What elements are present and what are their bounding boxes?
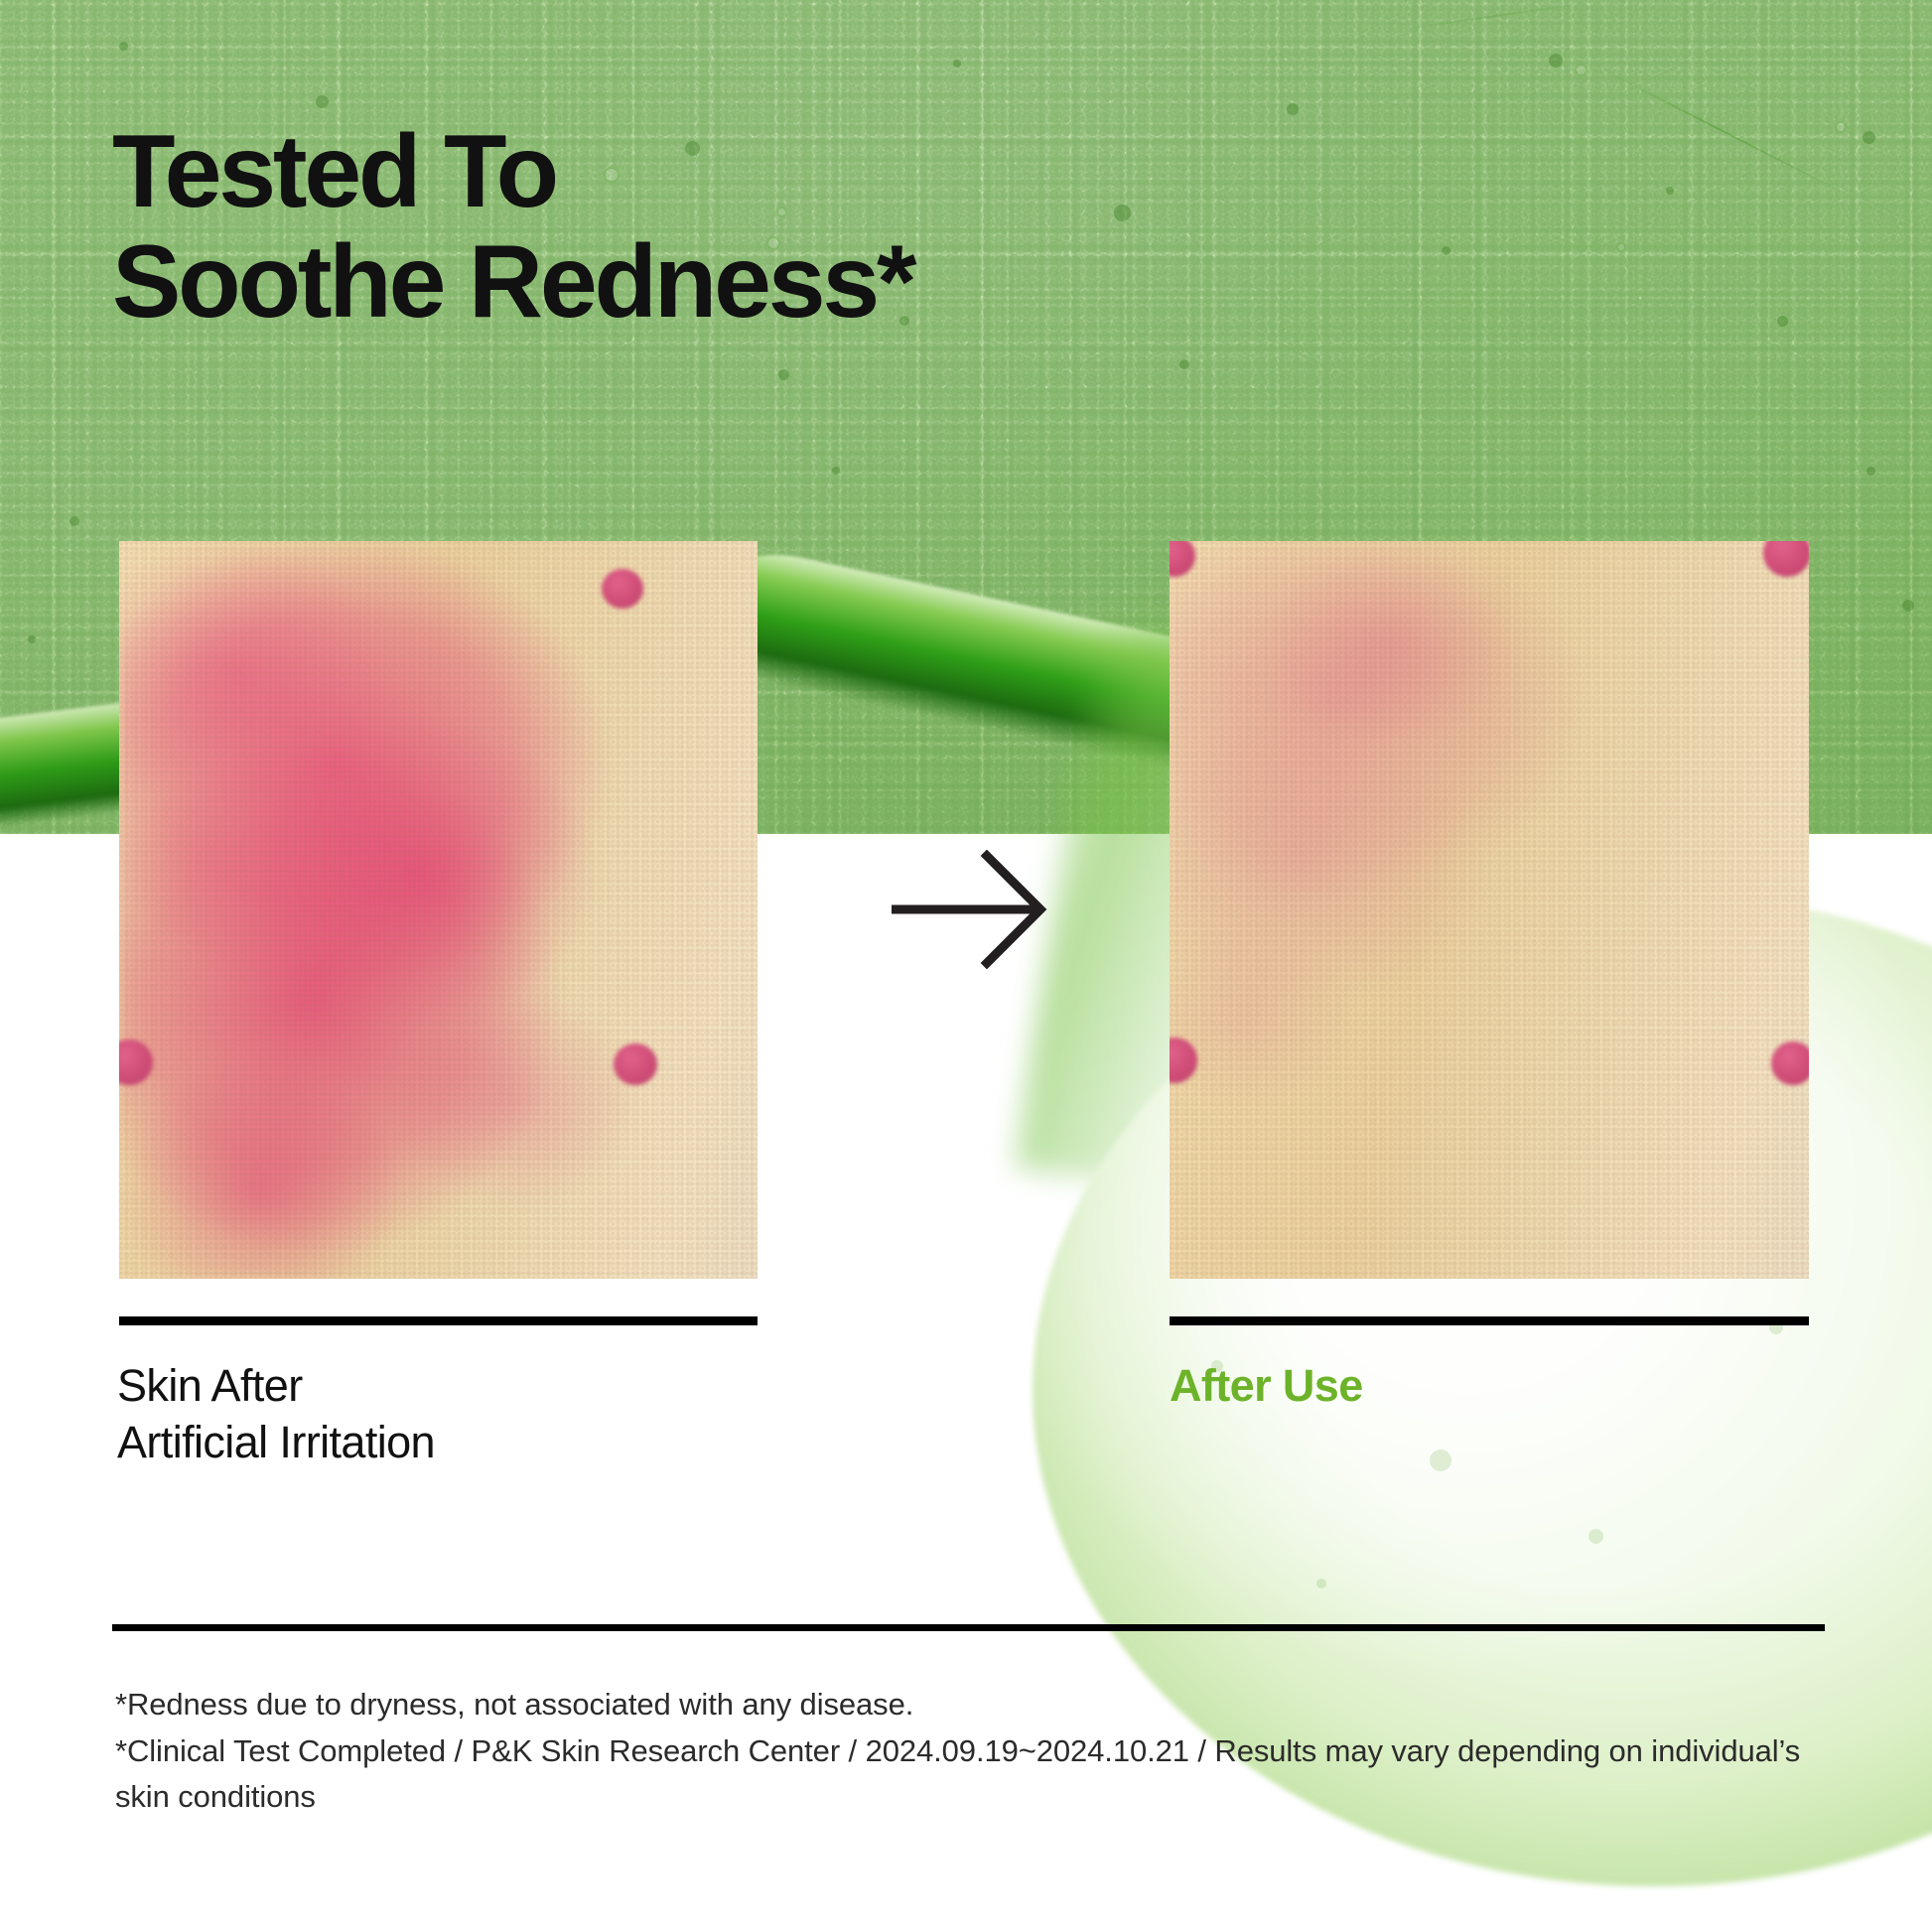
after-caption-rule [1170,1316,1809,1325]
disclaimer-text: *Redness due to dryness, not associated … [115,1682,1843,1821]
skin-grain-texture [1170,541,1809,1279]
skin-blemish [602,569,643,609]
arrow-right-icon [892,850,1048,969]
before-caption-rule [119,1316,758,1325]
before-skin-photo [119,541,758,1279]
skin-blemish [614,1043,657,1085]
footer-divider [112,1624,1825,1631]
promo-canvas: Tested To Soothe Redness* Skin After Art… [0,0,1932,1932]
skin-blemish [1771,1041,1809,1085]
skin-grain-texture [119,541,758,1279]
after-caption: After Use [1170,1358,1363,1415]
before-caption: Skin After Artificial Irritation [117,1358,435,1470]
page-title: Tested To Soothe Redness* [112,117,913,339]
after-skin-photo [1170,541,1809,1279]
